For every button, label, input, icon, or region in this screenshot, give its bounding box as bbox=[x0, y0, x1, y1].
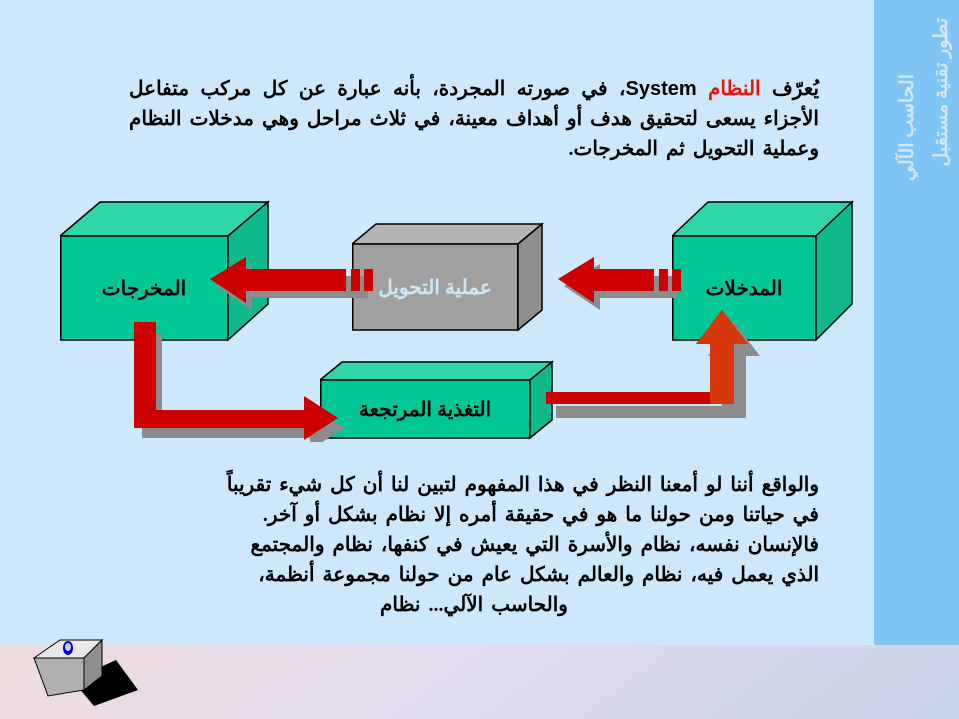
process-box-label: عملية التحويل bbox=[378, 275, 492, 300]
sidebar: تطور تقنية مستقبل الحاسب الآلي bbox=[874, 0, 959, 645]
explanation-line-1: والواقع أننا لو أمعنا النظر في هذا المفه… bbox=[129, 470, 819, 500]
diagram-box-process: عملية التحويل bbox=[352, 222, 542, 332]
feedback-box-label: التغذية المرتجعة bbox=[359, 397, 491, 422]
arrow-process-to-outputs bbox=[196, 252, 376, 324]
explanation-line-3: فالإنسان نفسه، نظام والأسرة التي يعيش في… bbox=[129, 530, 819, 560]
outputs-box-label: المخرجات bbox=[102, 276, 186, 301]
definition-paragraph: يُعرّف النظام System، في صورته المجردة، … bbox=[129, 74, 819, 164]
explanation-paragraph: والواقع أننا لو أمعنا النظر في هذا المفه… bbox=[129, 470, 819, 620]
inputs-box-label: المدخلات bbox=[706, 276, 783, 301]
explanation-line-4: الذي يعمل فيه، نظام والعالم بشكل عام من … bbox=[129, 560, 819, 590]
mouse-key-icon bbox=[20, 628, 150, 708]
diagram-box-feedback: التغذية المرتجعة bbox=[320, 360, 552, 440]
definition-highlight-term: النظام bbox=[708, 78, 761, 100]
sidebar-title-line-2: الحاسب الآلي bbox=[897, 74, 919, 181]
explanation-line-2: في حياتنا ومن حولنا ما هو في حقيقة أمره … bbox=[129, 500, 819, 530]
sidebar-title-line-1: تطور تقنية مستقبل bbox=[931, 18, 953, 167]
arrow-outputs-to-feedback bbox=[112, 322, 352, 442]
arrow-feedback-to-inputs bbox=[536, 300, 766, 440]
definition-intro: يُعرّف bbox=[761, 78, 819, 100]
explanation-line-5: والحاسب الآلي... نظام bbox=[129, 590, 819, 620]
definition-latin-term: System bbox=[625, 74, 696, 104]
slide-canvas: تطور تقنية مستقبل الحاسب الآلي يُعرّف ال… bbox=[0, 0, 959, 719]
